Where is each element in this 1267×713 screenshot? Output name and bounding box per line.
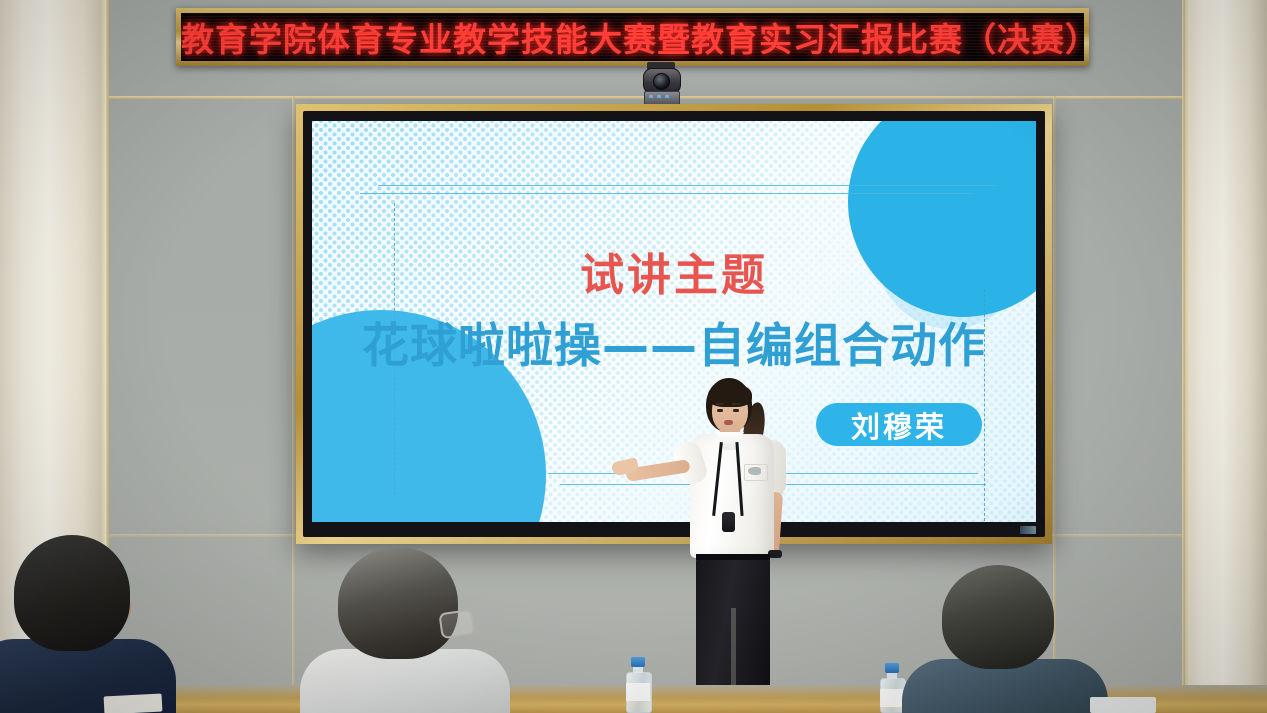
wall-trim-horizontal bbox=[0, 96, 1267, 99]
slide-rule-top-b bbox=[360, 193, 972, 194]
slide-rule-top-a bbox=[378, 185, 996, 186]
slide-title: 试讲主题 bbox=[312, 239, 1036, 303]
audience-member-right bbox=[920, 587, 1102, 713]
paper-document bbox=[104, 693, 163, 713]
audience-head bbox=[338, 547, 458, 659]
presenter-wristwatch bbox=[768, 550, 782, 558]
presenter-eyebrow-left bbox=[716, 403, 724, 405]
slide-subtitle: 花球啦啦操——自编组合动作 bbox=[312, 307, 1036, 376]
wall-pillar-right bbox=[1185, 0, 1267, 713]
presenter-waistline bbox=[696, 554, 770, 560]
bottle-label bbox=[626, 683, 650, 701]
camera-led-indicator bbox=[649, 95, 653, 98]
lecture-hall-scene: 教育学院体育专业教学技能大赛暨教育实习汇报比赛（决赛） bbox=[0, 0, 1267, 713]
ptz-camera bbox=[641, 62, 681, 108]
presenter-eyebrow-right bbox=[732, 403, 740, 405]
display-brand-logo bbox=[1020, 526, 1036, 534]
presenter-shirt bbox=[690, 434, 774, 558]
presenter-eye-left bbox=[717, 409, 723, 412]
presenter-mouth bbox=[724, 420, 733, 425]
pillar-edge-right bbox=[1185, 0, 1190, 713]
water-bottle bbox=[880, 663, 904, 713]
camera-led-indicator-2 bbox=[657, 95, 661, 98]
audience-member-center bbox=[312, 567, 508, 713]
bottle-cap bbox=[631, 657, 645, 667]
presenter-id-badge bbox=[722, 512, 735, 532]
led-banner-frame: 教育学院体育专业教学技能大赛暨教育实习汇报比赛（决赛） bbox=[176, 8, 1089, 66]
led-banner-screen: 教育学院体育专业教学技能大赛暨教育实习汇报比赛（决赛） bbox=[181, 13, 1084, 61]
bottle-label bbox=[880, 689, 904, 707]
water-bottle bbox=[626, 657, 650, 713]
audience-head bbox=[942, 565, 1054, 669]
bottle-neck bbox=[887, 672, 897, 679]
audience-head bbox=[14, 535, 130, 651]
wall-trim-vertical-2 bbox=[292, 96, 295, 713]
camera-base bbox=[644, 91, 680, 105]
bottle-neck bbox=[633, 666, 643, 673]
presenter-eye-right bbox=[733, 409, 739, 412]
camera-lens-icon bbox=[653, 73, 670, 90]
camera-led-indicator-3 bbox=[665, 95, 669, 98]
eyeglasses-icon bbox=[438, 609, 475, 639]
presenter-pocket-emblem-icon bbox=[748, 467, 761, 475]
bottle-cap bbox=[885, 663, 899, 673]
led-banner-text: 教育学院体育专业教学技能大赛暨教育实习汇报比赛（决赛） bbox=[181, 13, 1084, 61]
presenter-hair-front bbox=[708, 383, 752, 407]
audience-member-left bbox=[0, 553, 176, 713]
paper-document bbox=[1090, 697, 1156, 713]
